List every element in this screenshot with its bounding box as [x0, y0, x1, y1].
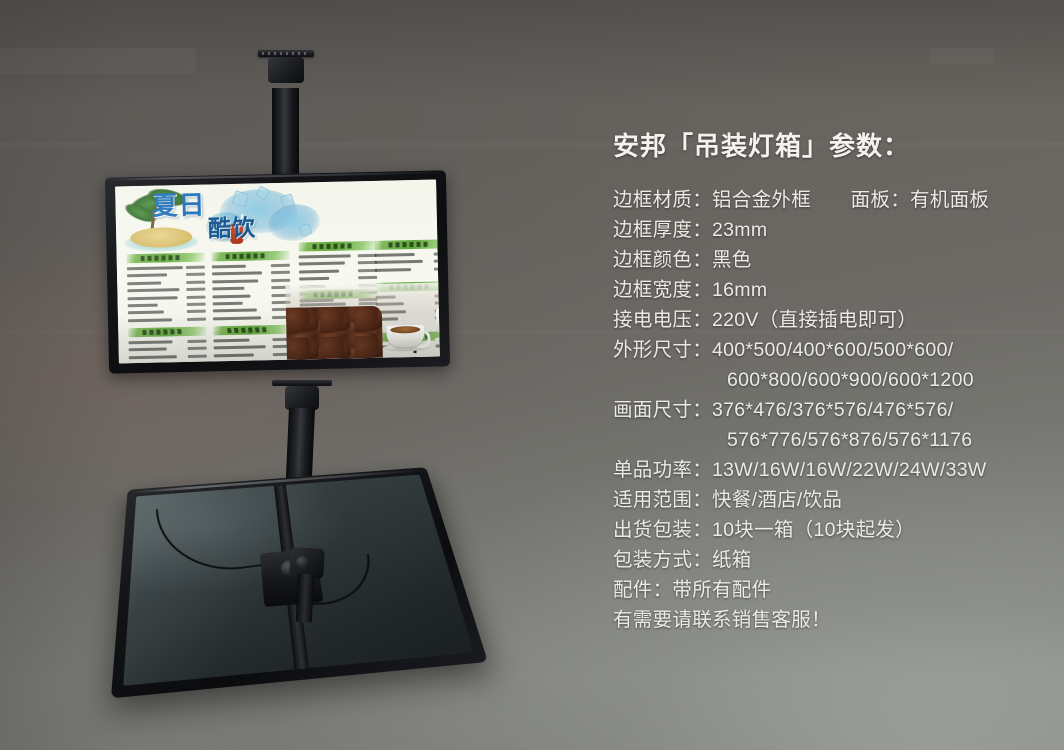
menu-item-row	[375, 251, 440, 258]
menu-section-header	[212, 251, 290, 262]
menu-item-row	[127, 279, 205, 286]
spec-line-contact: 有需要请联系销售客服！	[613, 605, 1043, 635]
spec-line-power: 单品功率：13W/16W/16W/22W/24W/33W	[613, 455, 1043, 485]
menu-item-row	[212, 263, 290, 270]
menu-item-row	[214, 344, 292, 351]
ceiling-lightbox-upper: 夏日 酷饮	[105, 170, 450, 373]
menu-section	[212, 251, 292, 324]
coffee-photo	[285, 282, 440, 359]
ceiling-plate-screw-holes	[262, 52, 310, 55]
spec-title: 安邦「吊装灯箱」参数：	[613, 126, 1043, 163]
spec-line-pack-method: 包装方式：纸箱	[613, 545, 1043, 575]
menu-item-row	[127, 287, 205, 294]
menu-item-row	[127, 265, 205, 272]
extension-pole-upper	[272, 88, 299, 180]
spec-line-shipping-pack: 出货包装：10块一箱（10块起发）	[613, 515, 1043, 545]
menu-item-row	[213, 300, 291, 307]
menu-section-header	[374, 239, 440, 250]
product-photo-scene: 夏日 酷饮	[0, 0, 1064, 750]
spec-line-application: 适用范围：快餐/酒店/饮品	[613, 485, 1043, 515]
menu-item-row	[128, 309, 206, 316]
coffee-beans	[286, 306, 383, 360]
menu-item-row	[128, 316, 206, 323]
coffee-cup-front	[382, 321, 431, 352]
menu-section	[127, 253, 207, 326]
menu-item-row	[214, 351, 292, 358]
menu-section-header	[128, 327, 206, 338]
lightbox-menu-panel: 夏日 酷饮	[115, 180, 440, 364]
menu-section-header	[213, 325, 291, 336]
menu-item-row	[375, 259, 440, 266]
spec-line-frame-color: 边框颜色：黑色	[613, 245, 1043, 275]
spec-line-picture-size: 画面尺寸：376*476/376*576/476*576/	[613, 395, 1043, 425]
menu-item-row	[299, 260, 377, 267]
lower-pivot-knob	[296, 556, 309, 569]
menu-item-row	[212, 292, 290, 299]
menu-item-row	[299, 275, 377, 282]
menu-item-row	[212, 278, 290, 285]
menu-item-row	[375, 266, 440, 273]
menu-item-row	[213, 314, 291, 321]
menu-item-row	[127, 294, 205, 301]
spec-panel: 安邦「吊装灯箱」参数： 边框材质：铝合金外框 面板：有机面板 边框厚度：23mm…	[613, 126, 1043, 635]
spec-line-voltage: 接电电压：220V（直接插电即可）	[613, 305, 1043, 335]
spec-line-frame-material: 边框材质：铝合金外框 面板：有机面板	[613, 185, 1043, 215]
menu-item-row	[212, 285, 290, 292]
spec-line-frame-width: 边框宽度：16mm	[613, 275, 1043, 305]
menu-section	[213, 325, 292, 364]
menu-section-header	[298, 241, 376, 252]
menu-section-header	[127, 253, 205, 264]
menu-title-line-1: 夏日	[151, 193, 206, 220]
menu-item-row	[299, 253, 377, 260]
menu-item-row	[212, 270, 290, 277]
menu-title-line-2: 酷饮	[208, 217, 256, 241]
menu-section	[374, 239, 440, 275]
menu-item-row	[127, 272, 205, 279]
menu-item-row	[129, 353, 207, 360]
spec-line-outer-size: 外形尺寸：400*500/400*600/500*600/	[613, 335, 1043, 365]
menu-item-row	[128, 302, 206, 309]
menu-item-row	[129, 346, 207, 353]
menu-item-row	[299, 268, 377, 275]
spec-line-picture-size-cont: 576*776/576*876/576*1176	[613, 425, 1043, 455]
menu-item-row	[128, 339, 206, 346]
menu-item-row	[213, 337, 291, 344]
swivel-joint	[268, 57, 304, 83]
tilt-joint	[285, 386, 319, 410]
lower-pole-tail	[296, 574, 314, 623]
menu-item-row	[213, 307, 291, 314]
menu-section	[128, 327, 207, 364]
cup-saucer	[434, 336, 439, 343]
spec-line-frame-thickness: 边框厚度：23mm	[613, 215, 1043, 245]
spec-line-accessories: 配件：带所有配件	[613, 575, 1043, 605]
spec-line-outer-size-cont: 600*800/600*900/600*1200	[613, 365, 1043, 395]
